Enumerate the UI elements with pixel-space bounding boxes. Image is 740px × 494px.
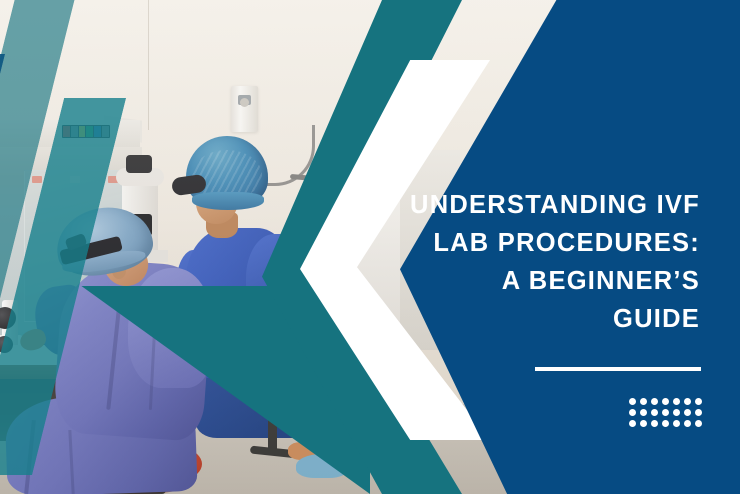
article-banner-card: UNDERSTANDING IVF LAB PROCEDURES: A BEGI… — [0, 0, 740, 494]
fixture-knob — [240, 98, 249, 107]
dot — [695, 398, 702, 405]
title-divider-rule — [535, 367, 701, 371]
dot — [684, 420, 691, 427]
surgical-cap-band — [192, 192, 264, 210]
hood-switch — [32, 176, 42, 183]
dot — [629, 409, 636, 416]
dot — [651, 409, 658, 416]
dot — [662, 398, 669, 405]
microscope-tube-secondary — [126, 155, 152, 173]
dot — [662, 420, 669, 427]
title-block: UNDERSTANDING IVF LAB PROCEDURES: A BEGI… — [370, 186, 700, 338]
dot — [629, 398, 636, 405]
dot — [640, 409, 647, 416]
page-title: UNDERSTANDING IVF LAB PROCEDURES: A BEGI… — [370, 186, 700, 338]
dot — [673, 409, 680, 416]
wall-seam — [148, 0, 149, 130]
dot — [662, 409, 669, 416]
dot — [673, 398, 680, 405]
dot-grid-decoration — [629, 398, 702, 427]
dot — [640, 420, 647, 427]
dot — [673, 420, 680, 427]
dot — [640, 398, 647, 405]
dot — [651, 398, 658, 405]
dot — [651, 420, 658, 427]
dot — [684, 398, 691, 405]
dot — [684, 409, 691, 416]
dot — [629, 420, 636, 427]
dot — [695, 409, 702, 416]
dot — [695, 420, 702, 427]
